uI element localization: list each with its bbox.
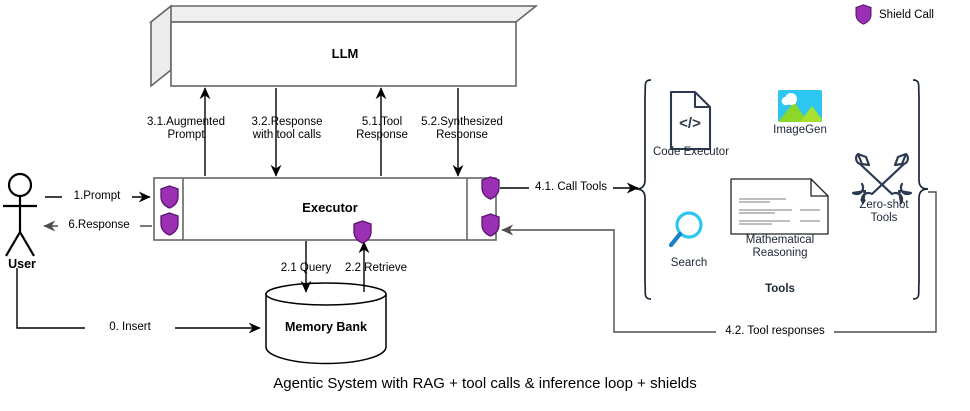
tool-label-code-executor: Code Executor [645, 146, 737, 159]
tool-label-math-reasoning: Mathematical Reasoning [730, 234, 830, 260]
edge-label-prompt: 1.Prompt [62, 190, 132, 203]
edge-label-response: 6.Response [58, 219, 140, 232]
llm-label: LLM [300, 47, 390, 60]
edge-label-tool-response: 5.1.Tool Response [345, 116, 419, 142]
tool-label-imagegen: ImageGen [760, 124, 840, 137]
shield-icon-executor-call-tools [481, 176, 500, 200]
edge-label-augmented-prompt: 3.1.Augmented Prompt [142, 116, 230, 142]
executor-label: Executor [280, 201, 380, 214]
shield-icon-executor-in-prompt [160, 185, 179, 209]
tools-group-label: Tools [740, 283, 820, 296]
math-document-icon [731, 179, 828, 234]
code-file-icon: </> [671, 92, 710, 149]
tool-label-search: Search [657, 257, 721, 270]
diagram-canvas: </> [0, 0, 970, 411]
edge-label-query: 2.1 Query [270, 262, 342, 275]
diagram-caption: Agentic System with RAG + tool calls & i… [0, 375, 970, 392]
image-icon [778, 90, 824, 122]
edge-label-response-tool-calls: 3.2.Response with tool calls [239, 116, 335, 142]
svg-text:</>: </> [679, 115, 701, 132]
edge-label-insert: 0. Insert [85, 321, 175, 334]
memory-bank-label: Memory Bank [271, 321, 381, 334]
shield-icon-executor-out-response [160, 212, 179, 236]
edge-label-synthesized-response: 5.2.Synthesized Response [413, 116, 511, 142]
legend-label: Shield Call [879, 9, 934, 21]
tool-label-zero-shot-tools: Zero-shot Tools [840, 199, 928, 225]
shield-icon-legend [855, 4, 872, 25]
tools-bracket-right [913, 80, 928, 299]
user-label: User [0, 258, 44, 271]
edge-label-retrieve: 2.2 Retrieve [334, 262, 418, 275]
crossed-wrenches-icon [853, 154, 911, 203]
edge-insert [17, 268, 260, 328]
edge-label-tool-responses: 4.2. Tool responses [716, 325, 834, 338]
tools-bracket-left [636, 80, 651, 299]
shield-icon-executor-memory [353, 220, 372, 244]
legend-shield-call: Shield Call [855, 4, 934, 25]
magnifier-icon [671, 213, 701, 245]
user-actor [3, 174, 37, 256]
edge-label-call-tools: 4.1. Call Tools [529, 181, 613, 194]
shield-icon-executor-tool-responses [481, 213, 500, 237]
